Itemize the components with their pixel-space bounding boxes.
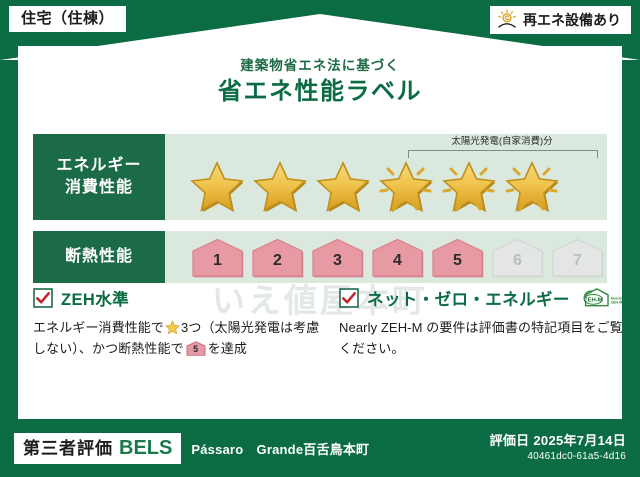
checkbox-checked-icon xyxy=(339,288,359,308)
insulation-performance-row: 断熱性能 1234567 xyxy=(33,231,607,283)
insulation-grade-1: 1 xyxy=(191,237,244,278)
label-body-panel: 建築物省エネ法に基づく 省エネ性能ラベル いえ値屋本町 エネルギー 消費性能 太… xyxy=(18,46,622,419)
label-title-block: 建築物省エネ法に基づく 省エネ性能ラベル xyxy=(18,58,622,107)
insulation-grade-value: 1 xyxy=(191,237,244,278)
svg-text:ZEH-M: ZEH-M xyxy=(584,298,603,304)
insulation-grade-3: 3 xyxy=(311,237,364,278)
note-body-part1: エネルギー消費性能で xyxy=(33,320,164,335)
inline-grade-badge: 5 xyxy=(186,341,206,356)
evaluation-info: 評価日 2025年7月14日 40461dc0-61a5-4d16 xyxy=(490,433,626,463)
checkbox-checked-icon xyxy=(33,288,53,308)
renewable-equipment-badge: 再エネ設備あり xyxy=(490,6,631,34)
star-icon xyxy=(378,160,434,214)
star-base xyxy=(185,157,248,217)
star-rating xyxy=(165,156,607,218)
building-type-badge: 住宅（住棟） xyxy=(9,6,126,32)
insulation-grades-cell: 1234567 xyxy=(165,231,607,283)
criteria-notes: ZEH水準 エネルギー消費性能で3つ（太陽光発電は考慮しない）、かつ断熱性能で5… xyxy=(33,286,629,359)
star-icon xyxy=(441,160,497,214)
note-zeh-standard: ZEH水準 エネルギー消費性能で3つ（太陽光発電は考慮しない）、かつ断熱性能で5… xyxy=(33,286,323,359)
energy-performance-label: 住宅（住棟） 再エネ設備あり 建築物省エネ法に基づく 省エネ性能ラベル いえ値屋… xyxy=(0,0,640,477)
note-zeh-standard-body: エネルギー消費性能で3つ（太陽光発電は考慮しない）、かつ断熱性能で5を達成 xyxy=(33,317,323,359)
insulation-grade-value: 6 xyxy=(491,237,544,278)
evaluation-date: 評価日 2025年7月14日 xyxy=(490,433,626,449)
insulation-grade-4: 4 xyxy=(371,237,424,278)
energy-stars-cell: 太陽光発電(自家消費)分 xyxy=(165,134,607,220)
zeh-m-logo-icon: ZEH-M Nearly ZEH-M xyxy=(580,286,622,310)
building-name: Pássaro Grande百舌鳥本町 xyxy=(191,439,369,458)
svg-text:Nearly: Nearly xyxy=(611,296,622,300)
bels-en-label: BELS xyxy=(119,437,172,459)
building-type-label: 住宅（住棟） xyxy=(21,10,114,27)
sun-renewable-icon xyxy=(496,9,518,31)
star-icon xyxy=(252,160,308,214)
insulation-grade-5: 5 xyxy=(431,237,484,278)
note-net-zero-energy-body: Nearly ZEH-M の要件は評価書の特記項目をご覧ください。 xyxy=(339,317,629,359)
svg-text:ZEH-M: ZEH-M xyxy=(611,301,622,305)
star-solar xyxy=(500,157,563,217)
page-title: 省エネ性能ラベル xyxy=(18,78,622,107)
note-zeh-standard-head: ZEH水準 xyxy=(33,286,323,310)
title-subtitle: 建築物省エネ法に基づく xyxy=(18,58,622,74)
solar-contribution-note: 太陽光発電(自家消費)分 xyxy=(407,137,597,147)
insulation-grade-6: 6 xyxy=(491,237,544,278)
note-net-zero-energy: ネット・ゼロ・エネルギー ZEH-M Nearly ZEH-M Nearly Z… xyxy=(339,286,629,359)
insulation-grade-value: 7 xyxy=(551,237,604,278)
energy-performance-label-cell: エネルギー 消費性能 xyxy=(33,134,165,220)
star-icon xyxy=(315,160,371,214)
insulation-performance-label-cell: 断熱性能 xyxy=(33,231,165,283)
insulation-grade-value: 3 xyxy=(311,237,364,278)
inline-star-icon xyxy=(165,320,180,335)
insulation-grade-value: 5 xyxy=(431,237,484,278)
insulation-grade-7: 7 xyxy=(551,237,604,278)
insulation-label: 断熱性能 xyxy=(65,246,133,268)
insulation-grade-value: 2 xyxy=(251,237,304,278)
insulation-grade-2: 2 xyxy=(251,237,304,278)
energy-label-line2: 消費性能 xyxy=(65,177,133,199)
note-body-part3: を達成 xyxy=(208,341,247,356)
bels-jp-label: 第三者評価 xyxy=(23,440,113,459)
evaluation-id: 40461dc0-61a5-4d16 xyxy=(490,450,626,463)
bels-badge: 第三者評価 BELS xyxy=(14,433,181,464)
note-net-zero-energy-head: ネット・ゼロ・エネルギー ZEH-M Nearly ZEH-M xyxy=(339,286,629,310)
star-solar xyxy=(437,157,500,217)
star-icon xyxy=(504,160,560,214)
star-base xyxy=(311,157,374,217)
insulation-grade-scale: 1234567 xyxy=(165,231,607,283)
inline-grade-value: 5 xyxy=(186,341,206,356)
metrics-container: エネルギー 消費性能 太陽光発電(自家消費)分 断熱性能 1234567 xyxy=(33,134,607,283)
note-zeh-standard-title: ZEH水準 xyxy=(61,286,129,310)
star-solar xyxy=(374,157,437,217)
star-base xyxy=(248,157,311,217)
label-footer: 第三者評価 BELS Pássaro Grande百舌鳥本町 評価日 2025年… xyxy=(0,419,640,477)
star-icon xyxy=(189,160,245,214)
energy-performance-row: エネルギー 消費性能 太陽光発電(自家消費)分 xyxy=(33,134,607,220)
renewable-badge-label: 再エネ設備あり xyxy=(523,12,621,28)
insulation-grade-value: 4 xyxy=(371,237,424,278)
note-net-zero-energy-title: ネット・ゼロ・エネルギー xyxy=(367,286,570,310)
energy-label-line1: エネルギー xyxy=(56,155,141,177)
